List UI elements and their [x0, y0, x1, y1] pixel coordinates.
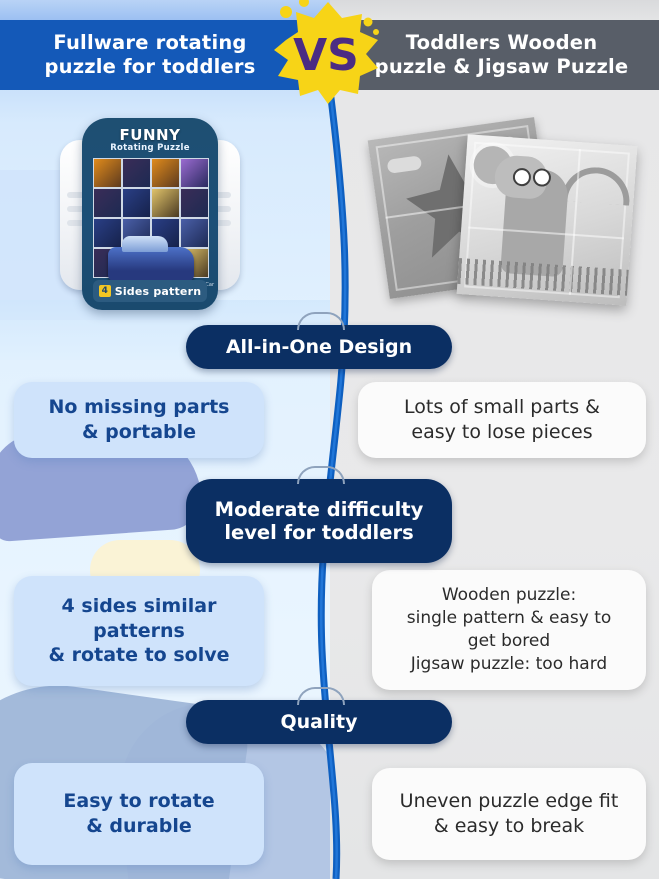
card-left-row-3: Easy to rotate & durable	[14, 763, 264, 865]
card-right-row-2: Wooden puzzle: single pattern & easy to …	[372, 570, 646, 690]
infographic-canvas: Fullware rotating puzzle for toddlers To…	[0, 0, 659, 879]
section-title-text: All-in-One Design	[226, 336, 412, 359]
header-left-title: Fullware rotating puzzle for toddlers	[0, 31, 300, 79]
badge-hook-icon	[297, 687, 345, 705]
section-title-text: Quality	[281, 711, 358, 734]
puzzle-grid	[93, 158, 209, 278]
card-right-row-3: Uneven puzzle edge fit & easy to break	[372, 768, 646, 860]
vs-label: VS	[293, 30, 359, 81]
police-car-illustration	[108, 247, 194, 281]
product-subtitle: Rotating Puzzle	[82, 143, 218, 153]
header-right-title: Toddlers Wooden puzzle & Jigsaw Puzzle	[344, 31, 659, 79]
card-left-row-2: 4 sides similar patterns & rotate to sol…	[14, 576, 264, 686]
toy-body: FUNNY Rotating Puzzle Police Car 4 Sides…	[82, 118, 218, 310]
sides-pattern-badge: 4 Sides pattern	[93, 280, 207, 302]
badge-hook-icon	[297, 466, 345, 484]
card-left-row-1: No missing parts & portable	[14, 382, 264, 458]
section-title-text: Moderate difficulty level for toddlers	[215, 498, 424, 545]
section-title-all-in-one: All-in-One Design	[186, 325, 452, 369]
product-rotating-puzzle: FUNNY Rotating Puzzle Police Car 4 Sides…	[60, 118, 240, 313]
product-brand: FUNNY	[82, 126, 218, 144]
section-title-difficulty: Moderate difficulty level for toddlers	[186, 479, 452, 563]
section-title-quality: Quality	[186, 700, 452, 744]
sides-count: 4	[99, 285, 111, 297]
sides-pattern-text: Sides pattern	[115, 285, 202, 298]
vs-badge: VS	[268, 0, 384, 106]
badge-hook-icon	[297, 312, 345, 330]
wooden-puzzle-giraffe	[457, 134, 638, 305]
card-right-row-1: Lots of small parts & easy to lose piece…	[358, 382, 646, 458]
